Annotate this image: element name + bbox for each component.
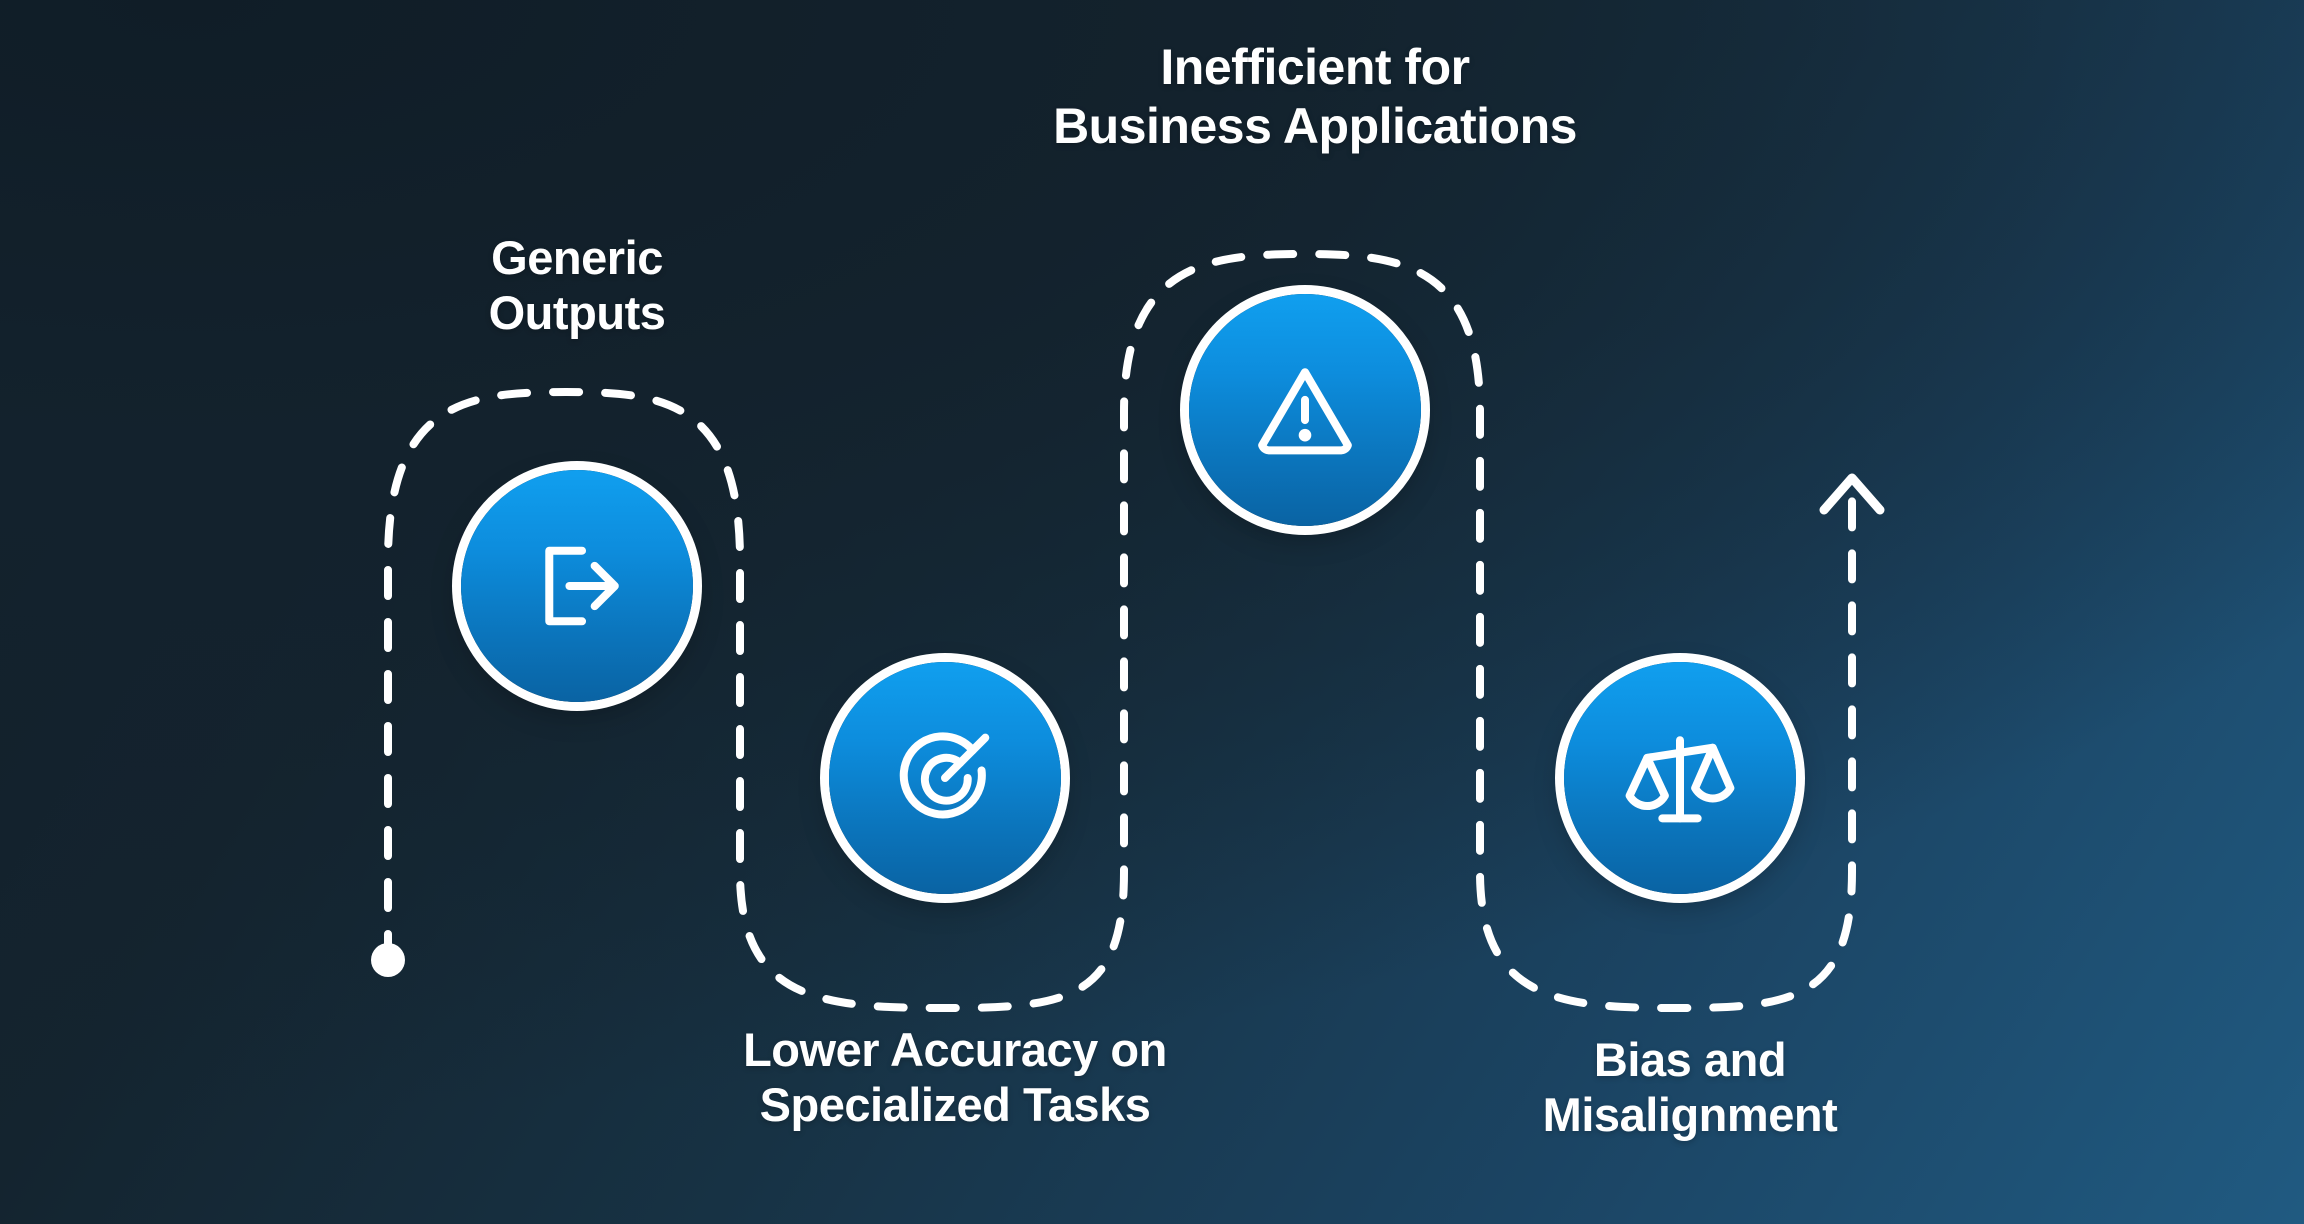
label-lower-accuracy: Lower Accuracy on Specialized Tasks — [743, 1022, 1167, 1133]
path-end-arrow-icon — [1824, 478, 1880, 510]
warning-triangle-icon — [1242, 347, 1368, 473]
target-arrow-icon — [882, 715, 1008, 841]
label-inefficient-business: Inefficient for Business Applications — [1053, 38, 1577, 156]
balance-scales-icon — [1617, 715, 1743, 841]
infographic-canvas: Generic Outputs Lower Accuracy on Specia… — [0, 0, 2304, 1224]
label-generic-outputs: Generic Outputs — [489, 230, 666, 341]
exit-logout-icon — [514, 523, 640, 649]
node-bias-misalignment[interactable] — [1564, 662, 1796, 894]
label-bias-misalignment: Bias and Misalignment — [1543, 1032, 1838, 1143]
node-inefficient-business[interactable] — [1189, 294, 1421, 526]
node-generic-outputs[interactable] — [461, 470, 693, 702]
node-lower-accuracy[interactable] — [829, 662, 1061, 894]
path-start-dot — [371, 943, 405, 977]
